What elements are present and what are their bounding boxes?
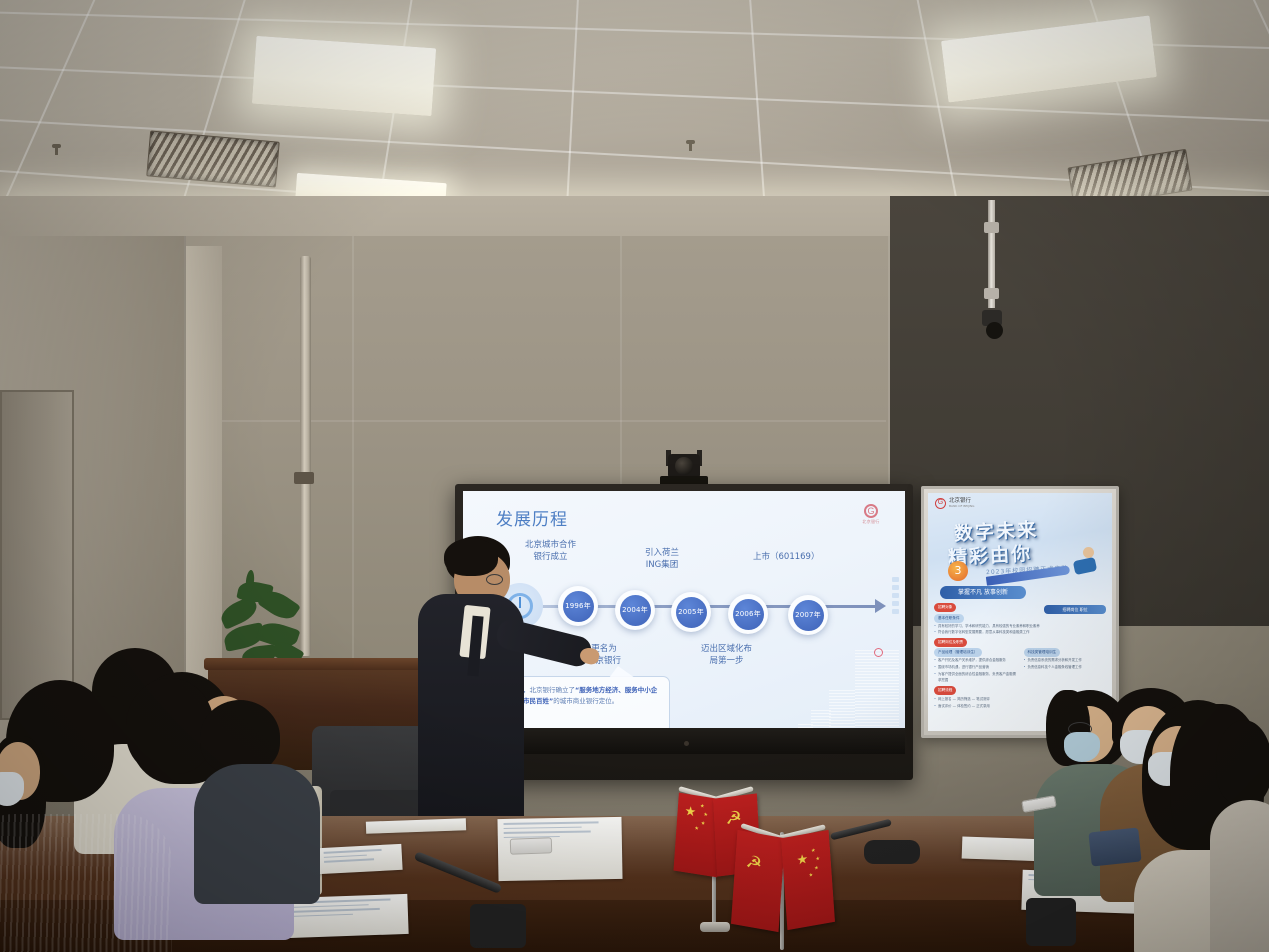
microphone-base (864, 840, 920, 864)
pole-joint (984, 222, 999, 233)
audience-clothing (1210, 800, 1269, 952)
pipe-clamp (294, 472, 314, 484)
flag-stand-base (700, 922, 730, 932)
flag-star-small: ★ (700, 804, 705, 810)
timeline-node-year: 2004年 (620, 595, 651, 626)
poster-section-title: 招聘对象 (934, 603, 956, 612)
poster-list-item: 为客户提供全面的综合性金融服务，负责客户金融需求挖掘 (934, 671, 1018, 684)
face-mask-icon (1064, 732, 1100, 762)
timeline-caption-2006: 迈出区域化布 局第一步 (701, 643, 752, 668)
microphone-base (470, 904, 526, 948)
poster-subsection-title: 基本任职条件 (934, 614, 964, 623)
sprinkler-head (686, 140, 695, 144)
timeline-node: 2004年 (615, 590, 655, 630)
camera-lens-icon (675, 457, 693, 475)
logo-name: 北京银行 (854, 519, 888, 525)
timeline-arrow-icon (875, 599, 886, 613)
wall-seam (620, 236, 622, 486)
slide-title: 发展历程 (496, 505, 568, 530)
poster-section-title: 招聘岗位及职责 (934, 638, 967, 647)
handout-paper (317, 844, 402, 874)
conference-room-photo: 发展历程 G 北京银行 1996年 2004年 2005年 20 (0, 0, 1269, 952)
desk-flag-set: ★ ★ ★ ★ ★ ☭ ☭ ★ ★ ★ ★ ★ (660, 778, 870, 952)
potted-plant (214, 568, 318, 672)
poster-list-item: 围绕市场机遇，进行银行产品营销 (934, 664, 1018, 671)
audience-member-right-edge (1216, 720, 1269, 952)
timeline-node-year: 2007年 (793, 600, 824, 631)
poster-subsection-title: 产品经理（管理培训生） (934, 648, 982, 657)
timeline-node: 2006年 (728, 594, 768, 634)
party-flag: ☭ (731, 830, 785, 932)
poster-section: 招聘岗位及职责 产品经理（管理培训生） 客户开拓及客户关系维护，提供综合金融服务… (934, 638, 1107, 684)
audience-member-left-edge (196, 700, 316, 900)
poster-list-item: 具有较好的学习、学术和研究能力，具有较强的专业素养和职业素养 (934, 623, 1107, 630)
air-vent (146, 130, 280, 187)
flag-star-big: ★ (796, 852, 808, 867)
poster-subsection-title: 科技类管理培训生 (1024, 648, 1061, 657)
door-frame (0, 390, 74, 720)
timeline-node: 2005年 (671, 592, 711, 632)
party-emblem-icon: ☭ (745, 854, 763, 874)
poster-person-graphic (1074, 547, 1098, 583)
microphone-base (1026, 898, 1076, 946)
bank-logo: G 北京银行 (854, 504, 888, 532)
presenter (414, 536, 589, 826)
poster-list-item: 符合我行数字化转型发展需要，愿意从事科技类和金融类工作 (934, 629, 1107, 636)
timeline-node: 2007年 (788, 595, 828, 635)
smartphone-on-table[interactable] (510, 837, 553, 854)
audience-clothing (0, 814, 172, 952)
flag-star-small: ★ (703, 813, 708, 819)
logo-mark-icon: G (864, 504, 878, 518)
flag-star-big: ★ (684, 804, 696, 819)
poster-bank-logo: G 北京银行 BANK OF BEIJING (935, 498, 975, 509)
poster-logo-name-en: BANK OF BEIJING (949, 505, 975, 509)
flag-star-small: ★ (694, 826, 699, 832)
small-item-on-table (1088, 827, 1141, 866)
poster-section-title: 招聘流程 (934, 686, 956, 695)
pole-joint (984, 288, 999, 299)
poster-section: 招聘对象 基本任职条件 具有较好的学习、学术和研究能力，具有较强的专业素养和职业… (934, 603, 1107, 636)
presenter-glasses-icon (486, 574, 503, 585)
poster-badge: 3 (948, 561, 968, 581)
flag-star-small: ★ (815, 857, 820, 863)
ceiling-light-panel (941, 15, 1157, 102)
ptz-conference-camera (660, 446, 708, 488)
flag-star-small: ★ (809, 873, 814, 879)
slide-dots-decoration (892, 577, 899, 617)
poster-list-item: 客户开拓及客户关系维护，提供综合金融服务 (934, 657, 1018, 664)
china-flag: ★ ★ ★ ★ ★ (781, 830, 835, 930)
timeline-caption-2005: 引入荷兰 ING集团 (645, 547, 679, 572)
poster-ribbon: 掌握不凡 放事创新 (940, 586, 1026, 599)
wall-seam (186, 420, 886, 422)
flag-star-small: ★ (814, 866, 819, 872)
audience-clothing (194, 764, 320, 904)
wall-seam (352, 236, 354, 696)
audience-member-left-front (0, 680, 200, 952)
podium-top (204, 658, 422, 670)
flag-star-small: ★ (701, 821, 706, 827)
timeline-node-year: 2006年 (733, 599, 764, 630)
ceiling-light-panel (252, 36, 436, 116)
poster-list-item: 负责信息系统的需求分析和开发工作 (1024, 657, 1108, 664)
sprinkler-head (52, 144, 61, 148)
poster-list-item: 负责信息科技个人金融条线管理工作 (1024, 664, 1108, 671)
power-led-icon (684, 741, 689, 746)
flag-star-small: ★ (811, 848, 816, 854)
poster-logo-mark-icon: G (935, 498, 946, 509)
ceiling-camera-lens-icon (986, 322, 1003, 339)
timeline-node-year: 2005年 (676, 597, 707, 628)
wall-seam (888, 236, 890, 486)
timeline-caption-2007: 上市（601169） (753, 551, 819, 563)
